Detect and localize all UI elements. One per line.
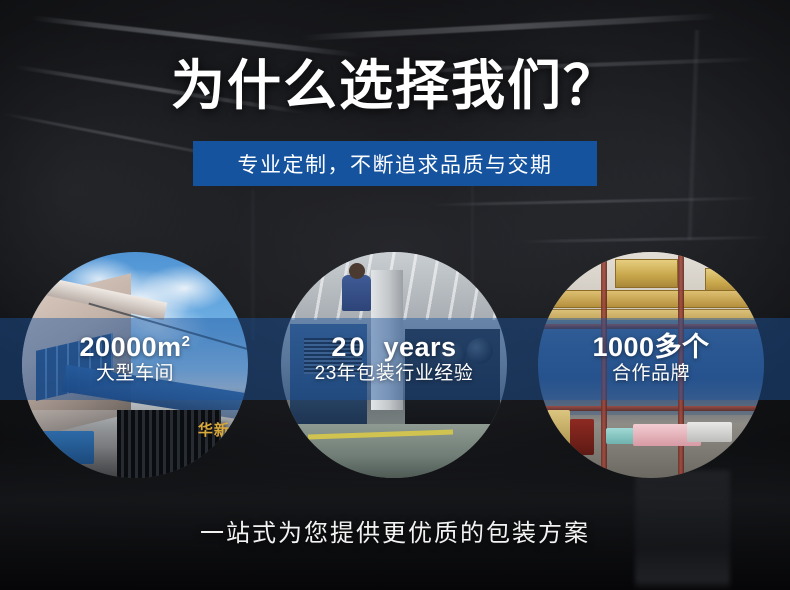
factory-exterior-photo: 华新 bbox=[22, 252, 248, 478]
feature-circle-workshop-area: 华新 bbox=[22, 252, 248, 478]
product-box bbox=[547, 410, 570, 451]
worker-head bbox=[349, 263, 365, 279]
building-signboard bbox=[40, 431, 94, 465]
product-box bbox=[570, 419, 595, 455]
press-column bbox=[371, 270, 403, 410]
award-banner-strip bbox=[538, 290, 764, 308]
subtitle-banner-text: 专业定制，不断追求品质与交期 bbox=[238, 149, 553, 179]
ceiling-light-beam bbox=[430, 197, 760, 207]
display-shelf-rail bbox=[538, 406, 764, 411]
ceiling-light-beam bbox=[300, 13, 720, 41]
feature-circle-partner-brands bbox=[538, 252, 764, 478]
feature-circle-years-experience bbox=[281, 252, 507, 478]
press-vent-grill bbox=[304, 338, 363, 374]
showroom-photo bbox=[538, 252, 764, 478]
worker-figure bbox=[342, 275, 371, 311]
product-box bbox=[687, 422, 732, 442]
page-title: 为什么选择我们？ bbox=[0, 58, 790, 115]
showroom-glass-panel bbox=[538, 320, 764, 415]
feature-circles-row: 华新 bbox=[0, 252, 790, 478]
printing-press-photo bbox=[281, 252, 507, 478]
subtitle-banner: 专业定制，不断追求品质与交期 bbox=[193, 141, 597, 186]
why-choose-us-poster: 为什么选择我们？ 专业定制，不断追求品质与交期 华新 bbox=[0, 0, 790, 590]
display-frame-post bbox=[601, 252, 607, 478]
display-shelf-rail bbox=[538, 324, 764, 329]
building-brand-label: 华新 bbox=[198, 419, 230, 440]
award-plaque bbox=[615, 259, 678, 288]
ceiling-light-beam bbox=[520, 236, 770, 243]
footer-tagline: 一站式为您提供更优质的包装方案 bbox=[0, 513, 790, 548]
